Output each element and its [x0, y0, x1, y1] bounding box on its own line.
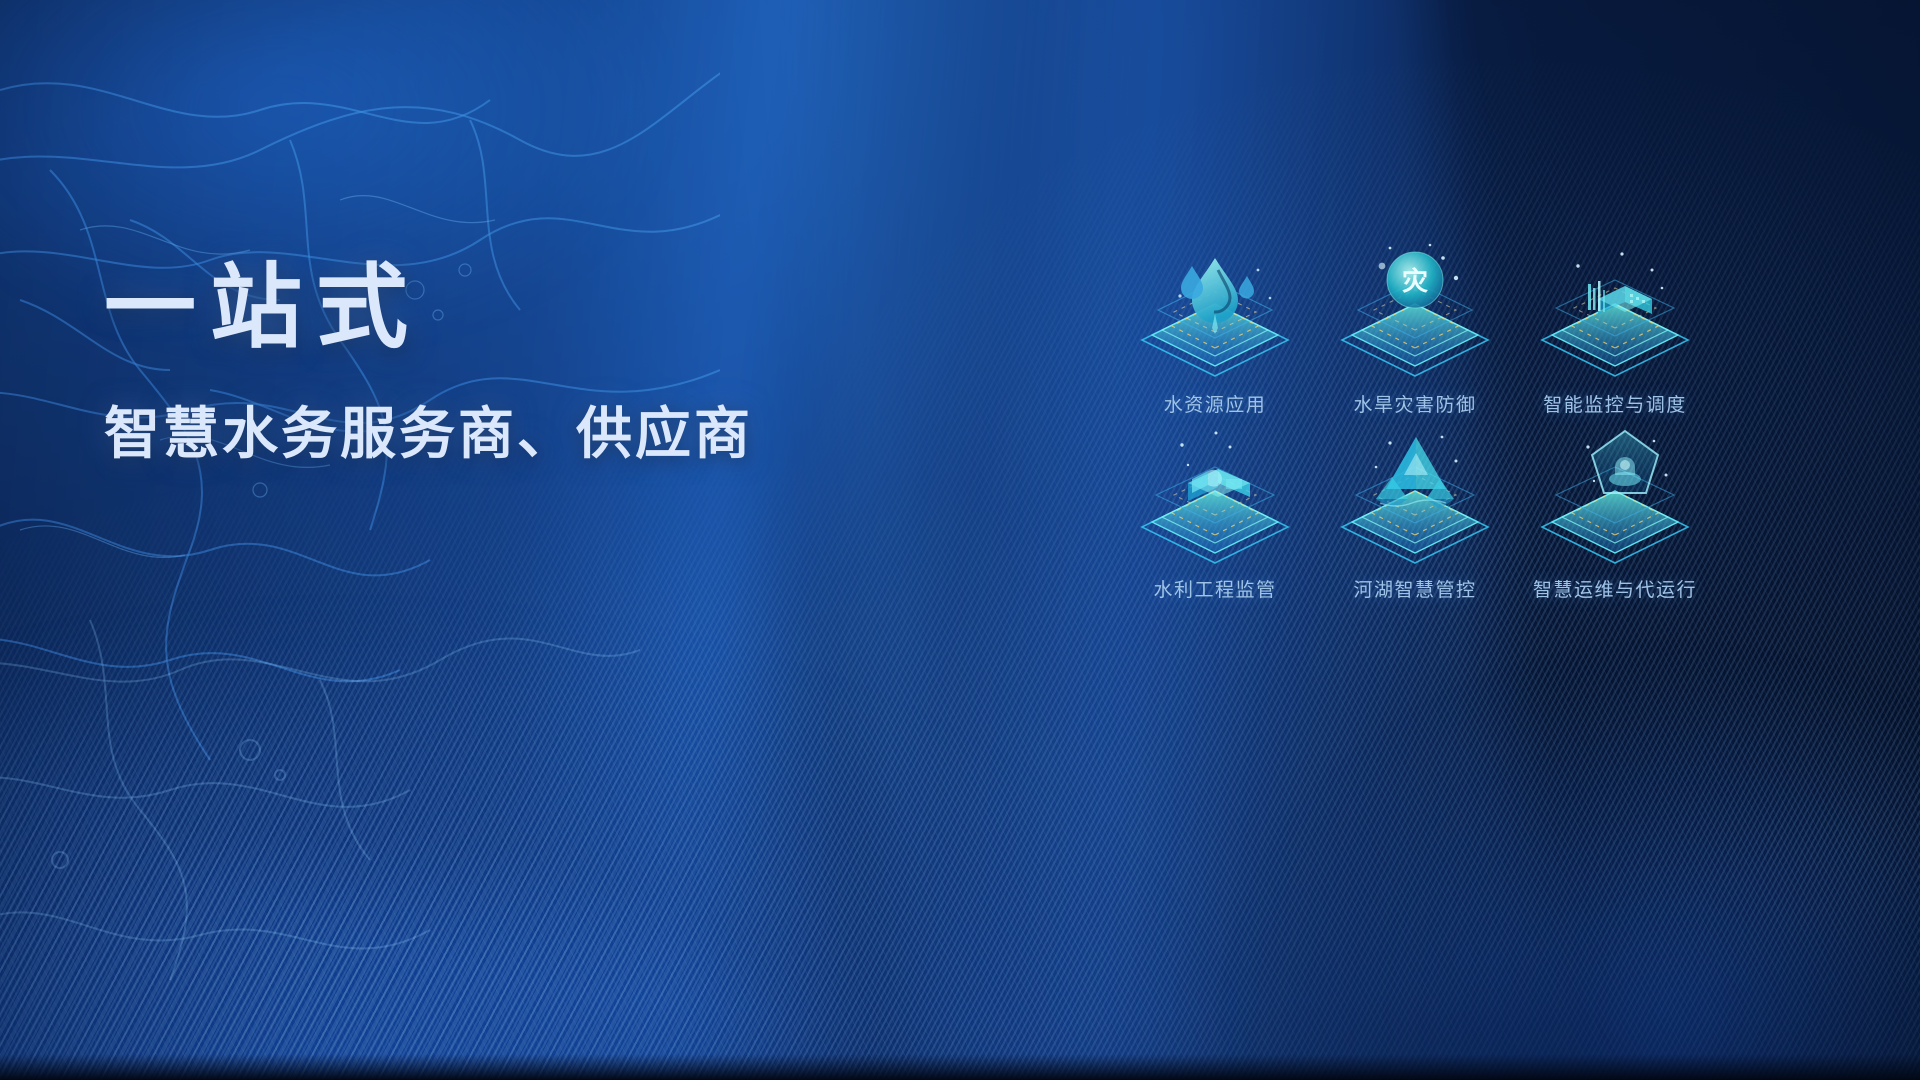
- feature-item-smart-monitoring-dispatch[interactable]: 智能监控与调度: [1530, 236, 1700, 417]
- water-drop-platform-icon: [1130, 236, 1300, 388]
- feature-label: 智慧运维与代运行: [1533, 575, 1697, 602]
- feature-item-river-lake-smart-control[interactable]: 河湖智慧管控: [1330, 423, 1500, 602]
- page-title: 一站式: [104, 262, 924, 354]
- feature-item-smart-ops-managed-operation[interactable]: 智慧运维与代运行: [1530, 423, 1700, 602]
- feature-label: 智能监控与调度: [1543, 390, 1687, 417]
- feature-label: 水利工程监管: [1153, 575, 1276, 602]
- dam-engineering-platform-icon: [1130, 423, 1300, 573]
- shield-operations-platform-icon: [1530, 423, 1700, 573]
- disaster-badge-text: 灾: [1402, 266, 1428, 296]
- feature-label: 水资源应用: [1164, 390, 1267, 417]
- river-lake-mountain-platform-icon: [1330, 423, 1500, 573]
- disaster-sphere-platform-icon: 灾: [1330, 236, 1500, 388]
- feature-grid: 水资源应用: [1130, 236, 1700, 602]
- feature-label: 河湖智慧管控: [1353, 575, 1476, 602]
- feature-item-water-engineering-supervision[interactable]: 水利工程监管: [1130, 423, 1300, 602]
- monitoring-buildings-platform-icon: [1530, 236, 1700, 388]
- headline-block: 一站式 智慧水务服务商、供应商: [104, 262, 924, 462]
- bottom-fade: [0, 1054, 1920, 1080]
- slide-canvas: 一站式 智慧水务服务商、供应商: [0, 0, 1920, 1080]
- feature-item-water-resource[interactable]: 水资源应用: [1130, 236, 1300, 417]
- page-subtitle: 智慧水务服务商、供应商: [104, 406, 924, 462]
- feature-label: 水旱灾害防御: [1353, 390, 1476, 417]
- feature-item-flood-drought-defense[interactable]: 灾 水旱灾害防御: [1330, 236, 1500, 417]
